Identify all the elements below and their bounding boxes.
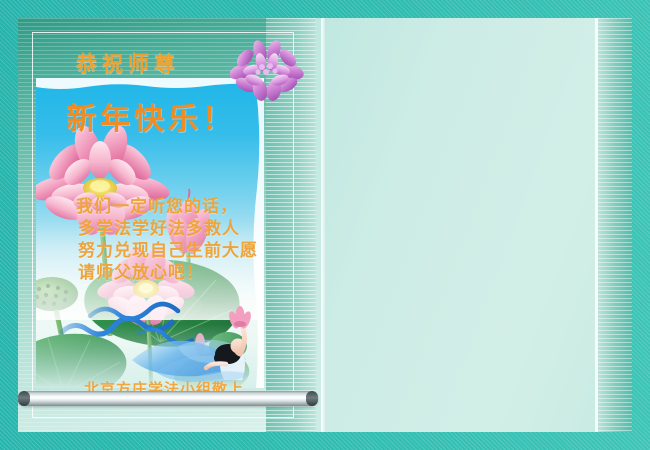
greeting-card: 恭祝师尊 新年快乐！ 我们一定听您的话， 多学法学好法多救人 努力兑现自己生前大… [0, 0, 650, 450]
message-block: 我们一定听您的话， 多学法学好法多救人 努力兑现自己生前大愿 请师父放心吧！ [76, 196, 258, 284]
celestial-dancer [28, 280, 318, 388]
purple-lotus-icon [230, 40, 304, 102]
panel-divider [321, 18, 325, 432]
metal-bar-cap-right [306, 391, 318, 406]
message-line: 努力兑现自己生前大愿 [78, 240, 258, 262]
metal-bar [18, 391, 318, 406]
greeting-line-1: 恭祝师尊 [76, 48, 180, 78]
message-line: 我们一定听您的话， [76, 196, 258, 218]
metal-bar-cap-left [18, 391, 30, 406]
message-line: 多学法学好法多救人 [78, 218, 258, 240]
right-panel-background [315, 18, 632, 432]
right-striped-band [598, 18, 632, 432]
greeting-line-2: 新年快乐！ [66, 94, 236, 138]
card-page: 恭祝师尊 新年快乐！ 我们一定听您的话， 多学法学好法多救人 努力兑现自己生前大… [18, 18, 632, 432]
